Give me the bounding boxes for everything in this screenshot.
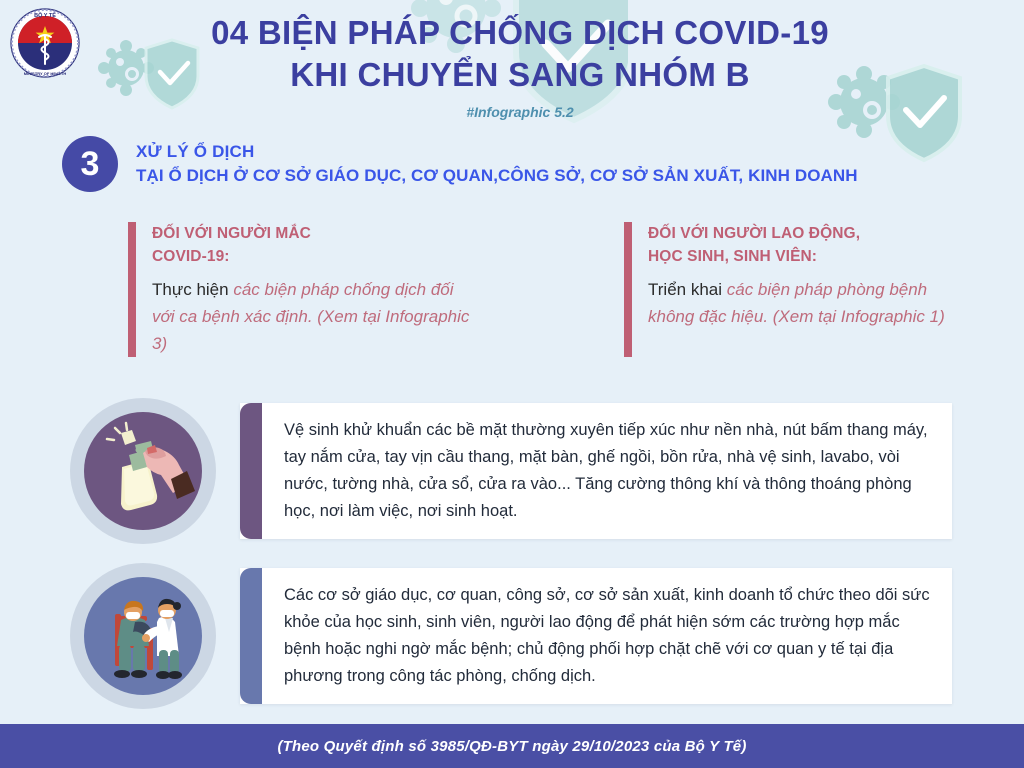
note-paragraph: Triển khai các biện pháp phòng bệnh khôn… <box>648 276 968 330</box>
section-header-text: XỬ LÝ Ổ DỊCH TẠI Ổ DỊCH Ở CƠ SỞ GIÁO DỤC… <box>136 140 858 189</box>
note-card-workers-students: ĐỐI VỚI NGƯỜI LAO ĐỘNG, HỌC SINH, SINH V… <box>624 222 968 357</box>
note-card-covid-patient: ĐỐI VỚI NGƯỜI MẮC COVID-19: Thực hiện cá… <box>128 222 472 357</box>
notes-group: ĐỐI VỚI NGƯỜI MẮC COVID-19: Thực hiện cá… <box>128 222 968 357</box>
logo-top-text: BỘ Y TẾ <box>34 11 56 19</box>
section-title: XỬ LÝ Ổ DỊCH <box>136 140 858 163</box>
note-accent-bar <box>128 222 136 357</box>
card-accent-bar <box>240 568 262 704</box>
note-lead: Thực hiện <box>152 280 233 299</box>
infographic-subtitle: #Infographic 5.2 <box>110 104 930 120</box>
note-body: ĐỐI VỚI NGƯỜI MẮC COVID-19: Thực hiện cá… <box>136 222 472 357</box>
footer-bar: (Theo Quyết định số 3985/QĐ-BYT ngày 29/… <box>0 724 1024 768</box>
title-line-2: KHI CHUYỂN SANG NHÓM B <box>110 54 930 96</box>
logo-bottom-text: MINISTRY OF HEALTH <box>24 71 67 76</box>
spray-bottle-disinfect-icon <box>84 412 202 530</box>
note-paragraph: Thực hiện các biện pháp chống dịch đối v… <box>152 276 472 357</box>
content-row-health-monitoring: Các cơ sở giáo dục, cơ quan, công sở, cơ… <box>70 563 952 709</box>
note-title-line-2: HỌC SINH, SINH VIÊN: <box>648 245 968 268</box>
doctor-examining-patient-icon <box>84 577 202 695</box>
title-line-1: 04 BIỆN PHÁP CHỐNG DỊCH COVID-19 <box>110 12 930 54</box>
section-number-badge: 3 <box>62 136 118 192</box>
section-header: 3 XỬ LÝ Ổ DỊCH TẠI Ổ DỊCH Ở CƠ SỞ GIÁO D… <box>62 136 858 192</box>
infographic-page: BỘ Y TẾ MINISTRY OF HEALTH 04 BIỆN PHÁP … <box>0 0 1024 768</box>
note-title-line-1: ĐỐI VỚI NGƯỜI MẮC <box>152 222 472 245</box>
content-row-disinfection: Vệ sinh khử khuẩn các bề mặt thường xuyê… <box>70 398 952 544</box>
icon-ring <box>70 563 216 709</box>
content-card: Vệ sinh khử khuẩn các bề mặt thường xuyê… <box>240 403 952 539</box>
note-accent-bar <box>624 222 632 357</box>
section-subtitle: TẠI Ổ DỊCH Ở CƠ SỞ GIÁO DỤC, CƠ QUAN,CÔN… <box>136 163 858 189</box>
note-title-line-1: ĐỐI VỚI NGƯỜI LAO ĐỘNG, <box>648 222 968 245</box>
note-title-line-2: COVID-19: <box>152 245 472 268</box>
card-text: Vệ sinh khử khuẩn các bề mặt thường xuyê… <box>262 403 952 539</box>
card-accent-bar <box>240 403 262 539</box>
page-title: 04 BIỆN PHÁP CHỐNG DỊCH COVID-19 KHI CHU… <box>110 12 930 120</box>
note-lead: Triển khai <box>648 280 727 299</box>
card-text: Các cơ sở giáo dục, cơ quan, công sở, cơ… <box>262 568 952 704</box>
ministry-of-health-logo: BỘ Y TẾ MINISTRY OF HEALTH <box>8 6 82 80</box>
footer-text: (Theo Quyết định số 3985/QĐ-BYT ngày 29/… <box>277 738 746 755</box>
icon-ring <box>70 398 216 544</box>
content-card: Các cơ sở giáo dục, cơ quan, công sở, cơ… <box>240 568 952 704</box>
note-body: ĐỐI VỚI NGƯỜI LAO ĐỘNG, HỌC SINH, SINH V… <box>632 222 968 357</box>
